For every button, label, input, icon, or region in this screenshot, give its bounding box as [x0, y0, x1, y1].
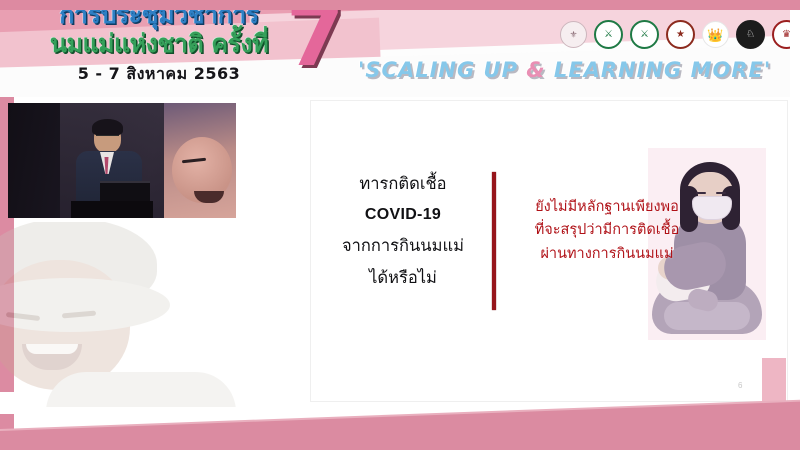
- speaker-glasses-icon: [96, 135, 119, 141]
- vertical-divider: [492, 172, 496, 310]
- speaker-video[interactable]: [8, 103, 236, 218]
- mother-eye-left: [696, 192, 706, 194]
- royal-seal-logo: ⚜: [560, 21, 587, 48]
- answer-line-3: ผ่านทางการกินนมแม่: [502, 243, 712, 266]
- slide-header: การประชุมวิชาการ นมแม่แห่งชาติ ครั้งที่ …: [0, 0, 790, 97]
- question-line-3: จากการกินนมแม่: [318, 230, 488, 262]
- mother-eye-right: [716, 192, 726, 194]
- conference-tagline: 'SCALING UP & LEARNING MORE': [358, 58, 771, 82]
- speaker-hair: [92, 119, 123, 136]
- conference-title: การประชุมวิชาการ นมแม่แห่งชาติ ครั้งที่: [24, 2, 294, 56]
- question-line-1: ทารกติดเชื้อ: [318, 168, 488, 200]
- question-line-4: ได้หรือไม่: [318, 262, 488, 294]
- health-department-logo: ⚔: [630, 20, 659, 49]
- tagline-suffix: LEARNING MORE': [546, 58, 772, 82]
- frame-top-edge: [0, 0, 800, 10]
- presentation-slide: การประชุมวิชาการ นมแม่แห่งชาติ ครั้งที่ …: [0, 0, 800, 450]
- conference-date: 5 - 7 สิงหาคม 2563: [24, 62, 294, 87]
- tagline-ampersand: &: [526, 58, 545, 82]
- watermark-teeth: [26, 344, 78, 354]
- page-number: 6: [738, 381, 742, 390]
- answer-line-2: ที่จะสรุปว่ามีการติดเชื้อ: [502, 219, 712, 242]
- edition-number: 7: [286, 0, 344, 78]
- answer-text: ยังไม่มีหลักฐานเพียงพอ ที่จะสรุปว่ามีการ…: [502, 196, 712, 266]
- ministry-public-health-logo: ⚔: [594, 20, 623, 49]
- sponsor-logos: ⚜ ⚔ ⚔ ★ 👑 ♘ ♛ สสส Thai Health: [560, 20, 790, 49]
- red-seal-logo: ♛: [772, 20, 790, 49]
- question-text: ทารกติดเชื้อ COVID-19 จากการกินนมแม่ ได้…: [318, 168, 488, 294]
- answer-line-1: ยังไม่มีหลักฐานเพียงพอ: [502, 196, 712, 219]
- bottom-left-white-gap: [0, 392, 40, 414]
- black-circle-logo: ♘: [736, 20, 765, 49]
- conference-title-line2: นมแม่แห่งชาติ ครั้งที่: [24, 31, 294, 57]
- garuda-emblem-logo: 👑: [702, 21, 729, 48]
- smiling-child-watermark: [0, 222, 250, 407]
- watermark-hat-brim: [0, 278, 170, 332]
- question-line-2: COVID-19: [318, 200, 488, 231]
- watermark-body: [46, 372, 236, 407]
- tagline-prefix: 'SCALING UP: [358, 58, 526, 82]
- podium: [71, 201, 153, 218]
- thai-pediatric-logo: ★: [666, 20, 695, 49]
